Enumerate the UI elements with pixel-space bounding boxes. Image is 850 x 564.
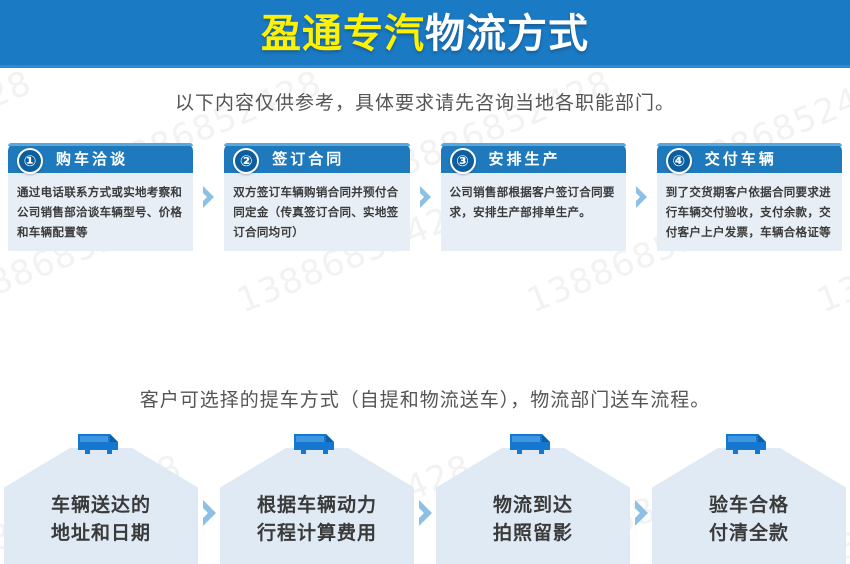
- chevron-right-icon: [201, 186, 216, 208]
- logistics-hexbox-4: 验车合格 付清全款: [652, 448, 846, 564]
- purchase-steps-row: ① 购车洽谈 通过电话联系方式或实地考察和公司销售部洽谈车辆型号、价格和车辆配置…: [8, 143, 842, 253]
- banner-logistics-suffix: 物流方式: [425, 11, 589, 57]
- step-number-badge-3: ③: [450, 148, 476, 174]
- step-body-4: 到了交货期客户依据合同要求进行车辆交付验收，支付余款，交付客户上户发票，车辆合格…: [657, 173, 842, 251]
- banner-logistics: 盈通专汽物流方式: [0, 0, 850, 68]
- step-title-2: 签订合同: [272, 148, 344, 169]
- truck-icon: [74, 430, 128, 458]
- banner-logistics-title: 盈通专汽物流方式: [261, 14, 589, 54]
- step-card-2[interactable]: ② 签订合同 双方签订车辆购销合同并预付合同定金（传真签订合同、实地签订合同均可…: [224, 143, 409, 251]
- logistics-line2-2: 行程计算费用: [257, 519, 377, 548]
- logistics-hexbox-1: 车辆送达的 地址和日期: [4, 448, 198, 564]
- step-title-1: 购车洽谈: [56, 148, 128, 169]
- logistics-item-2[interactable]: 根据车辆动力 行程计算费用: [220, 430, 414, 564]
- subtitle-logistics: 客户可选择的提车方式（自提和物流送车），物流部门送车流程。: [0, 385, 850, 412]
- step-header-2: ② 签订合同: [224, 143, 409, 173]
- step-number-badge-2: ②: [233, 148, 259, 174]
- truck-icon: [506, 430, 560, 458]
- step-arrow-3: [626, 143, 657, 251]
- logistics-line1-2: 根据车辆动力: [257, 491, 377, 520]
- logistics-line1-1: 车辆送达的: [51, 491, 151, 520]
- step-title-3: 安排生产: [489, 148, 561, 169]
- step-card-4[interactable]: ④ 交付车辆 到了交货期客户依据合同要求进行车辆交付验收，支付余款，交付客户上户…: [657, 143, 842, 251]
- logistics-line2-1: 地址和日期: [51, 519, 151, 548]
- logistics-arrow-1: [198, 430, 220, 564]
- truck-icon: [290, 430, 344, 458]
- logistics-hexbox-2: 根据车辆动力 行程计算费用: [220, 448, 414, 564]
- step-arrow-1: [193, 143, 224, 251]
- chevron-right-icon: [417, 500, 434, 526]
- logistics-line1-3: 物流到达: [493, 491, 573, 520]
- step-number-badge-4: ④: [666, 148, 692, 174]
- banner-logistics-brand: 盈通专汽: [261, 11, 425, 57]
- step-body-3: 公司销售部根据客户签订合同要求，安排生产部排单生产。: [441, 173, 626, 251]
- step-title-4: 交付车辆: [705, 148, 777, 169]
- step-header-1: ① 购车洽谈: [8, 143, 193, 173]
- logistics-line2-3: 拍照留影: [493, 519, 573, 548]
- logistics-item-1[interactable]: 车辆送达的 地址和日期: [4, 430, 198, 564]
- step-header-4: ④ 交付车辆: [657, 143, 842, 173]
- chevron-right-icon: [418, 186, 433, 208]
- logistics-arrow-3: [630, 430, 652, 564]
- page-root: 1388685242813886852428138868524281388685…: [0, 0, 850, 564]
- step-card-1[interactable]: ① 购车洽谈 通过电话联系方式或实地考察和公司销售部洽谈车辆型号、价格和车辆配置…: [8, 143, 193, 251]
- logistics-item-3[interactable]: 物流到达 拍照留影: [436, 430, 630, 564]
- step-body-1: 通过电话联系方式或实地考察和公司销售部洽谈车辆型号、价格和车辆配置等: [8, 173, 193, 251]
- subtitle-purchase: 以下内容仅供参考，具体要求请先咨询当地各职能部门。: [0, 88, 850, 115]
- chevron-right-icon: [201, 500, 218, 526]
- logistics-hexbox-3: 物流到达 拍照留影: [436, 448, 630, 564]
- chevron-right-icon: [633, 500, 650, 526]
- logistics-line1-4: 验车合格: [709, 491, 789, 520]
- step-body-2: 双方签订车辆购销合同并预付合同定金（传真签订合同、实地签订合同均可）: [224, 173, 409, 251]
- logistics-arrow-2: [414, 430, 436, 564]
- step-card-3[interactable]: ③ 安排生产 公司销售部根据客户签订合同要求，安排生产部排单生产。: [441, 143, 626, 251]
- logistics-item-4[interactable]: 验车合格 付清全款: [652, 430, 846, 564]
- step-arrow-2: [410, 143, 441, 251]
- chevron-right-icon: [634, 186, 649, 208]
- step-header-3: ③ 安排生产: [441, 143, 626, 173]
- logistics-steps-row: 车辆送达的 地址和日期 根据车辆动力 行程计算费用: [4, 430, 846, 564]
- truck-icon: [722, 430, 776, 458]
- logistics-line2-4: 付清全款: [709, 519, 789, 548]
- step-number-badge-1: ①: [17, 148, 43, 174]
